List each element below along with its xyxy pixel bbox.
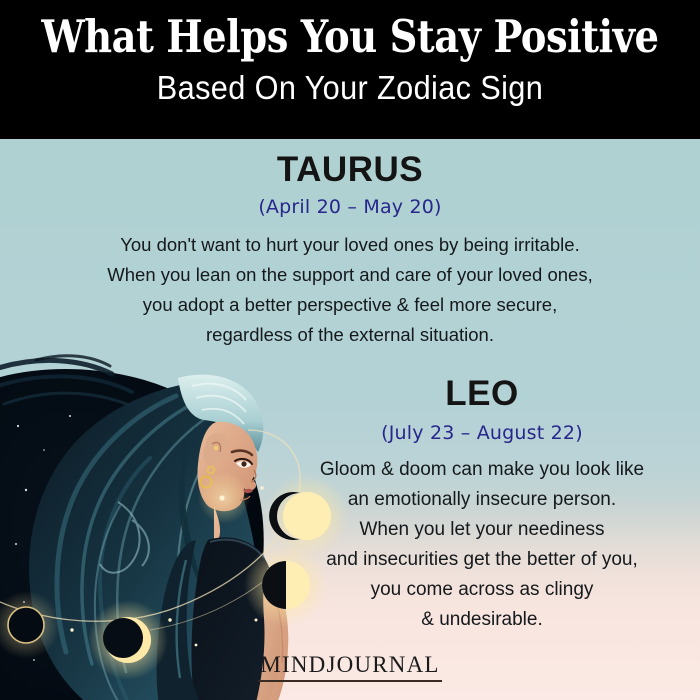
sign-name-leo: LEO [272,374,692,414]
poster-header: What Helps You Stay Positive Based On Yo… [0,0,700,139]
sign-body-line: an emotionally insecure person. [272,485,692,515]
sign-body-line: When you lean on the support and care of… [0,260,700,290]
poster-title: What Helps You Stay Positive [18,0,683,63]
sign-body-line: and insecurities get the better of you, [272,545,692,575]
sign-section-leo: LEO (July 23 – August 22) Gloom & doom c… [0,350,700,635]
sign-name-taurus: TAURUS [0,150,700,190]
zodiac-poster: What Helps You Stay Positive Based On Yo… [0,0,700,700]
footer: MINDJOURNAL [0,652,700,682]
logo-journal: JOURNAL [326,652,439,677]
sign-body-line: & undesirable. [272,605,692,635]
sign-body-line: You don't want to hurt your loved ones b… [0,230,700,260]
sign-section-taurus: TAURUS (April 20 – May 20) You don't wan… [0,139,700,350]
sign-dates-leo: (July 23 – August 22) [272,414,692,446]
mindjournal-logo: MINDJOURNAL [258,652,441,682]
sign-body-line: you come across as clingy [272,575,692,605]
sign-body-line: When you let your neediness [272,515,692,545]
sign-body-leo: Gloom & doom can make you look like an e… [272,446,692,635]
sign-body-line: regardless of the external situation. [0,320,700,350]
logo-mind: MIND [260,652,326,677]
poster-content: TAURUS (April 20 – May 20) You don't wan… [0,139,700,635]
sign-body-line: you adopt a better perspective & feel mo… [0,290,700,320]
sign-body-taurus: You don't want to hurt your loved ones b… [0,220,700,350]
poster-subtitle: Based On Your Zodiac Sign [25,63,676,107]
sign-body-line: Gloom & doom can make you look like [272,455,692,485]
sign-dates-taurus: (April 20 – May 20) [0,190,700,220]
